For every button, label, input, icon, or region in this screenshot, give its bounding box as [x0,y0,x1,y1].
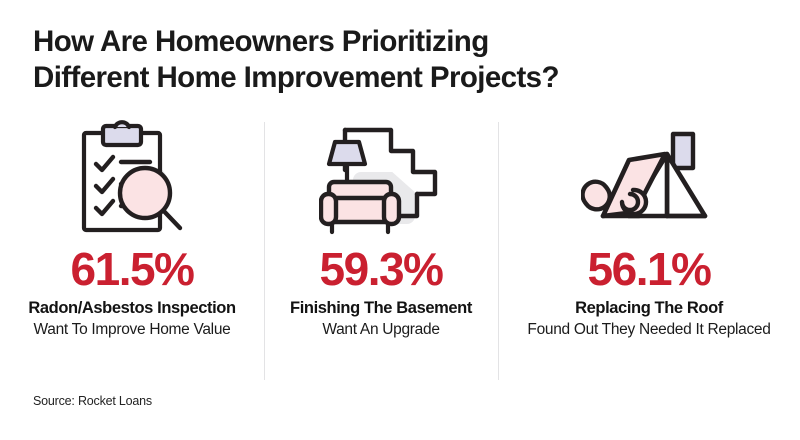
source-attribution: Source: Rocket Loans [33,394,152,408]
stat-column-replacing-the-roof: 56.1% Replacing The Roof Found Out They … [498,118,800,380]
stat-label-3: Replacing The Roof [575,298,723,318]
roof-shingle-roll-icon [581,120,717,238]
stat-label-2: Finishing The Basement [290,298,472,318]
stat-column-radon-asbestos-inspection: 61.5% Radon/Asbestos Inspection Want To … [0,118,264,380]
stat-sublabel-3: Found Out They Needed It Replaced [527,320,770,339]
stat-sublabel-2: Want An Upgrade [322,320,439,339]
stat-percent-1: 61.5% [71,244,194,294]
icon-wrap-1 [0,118,264,240]
title-line-1: How Are Homeowners Prioritizing [33,24,753,60]
icon-wrap-2 [264,118,498,240]
stat-column-finishing-the-basement: 59.3% Finishing The Basement Want An Upg… [264,118,498,380]
stat-percent-3: 56.1% [588,244,711,294]
clipboard-magnifier-icon [70,120,194,238]
page-title: How Are Homeowners Prioritizing Differen… [33,24,753,96]
icon-wrap-3 [498,118,800,240]
stat-columns: 61.5% Radon/Asbestos Inspection Want To … [0,118,800,380]
stat-label-1: Radon/Asbestos Inspection [28,298,235,318]
stat-sublabel-1: Want To Improve Home Value [34,320,231,339]
basement-armchair-stairs-icon [319,120,443,238]
stat-percent-2: 59.3% [320,244,443,294]
infographic-root: How Are Homeowners Prioritizing Differen… [0,0,800,440]
title-line-2: Different Home Improvement Projects? [33,60,753,96]
